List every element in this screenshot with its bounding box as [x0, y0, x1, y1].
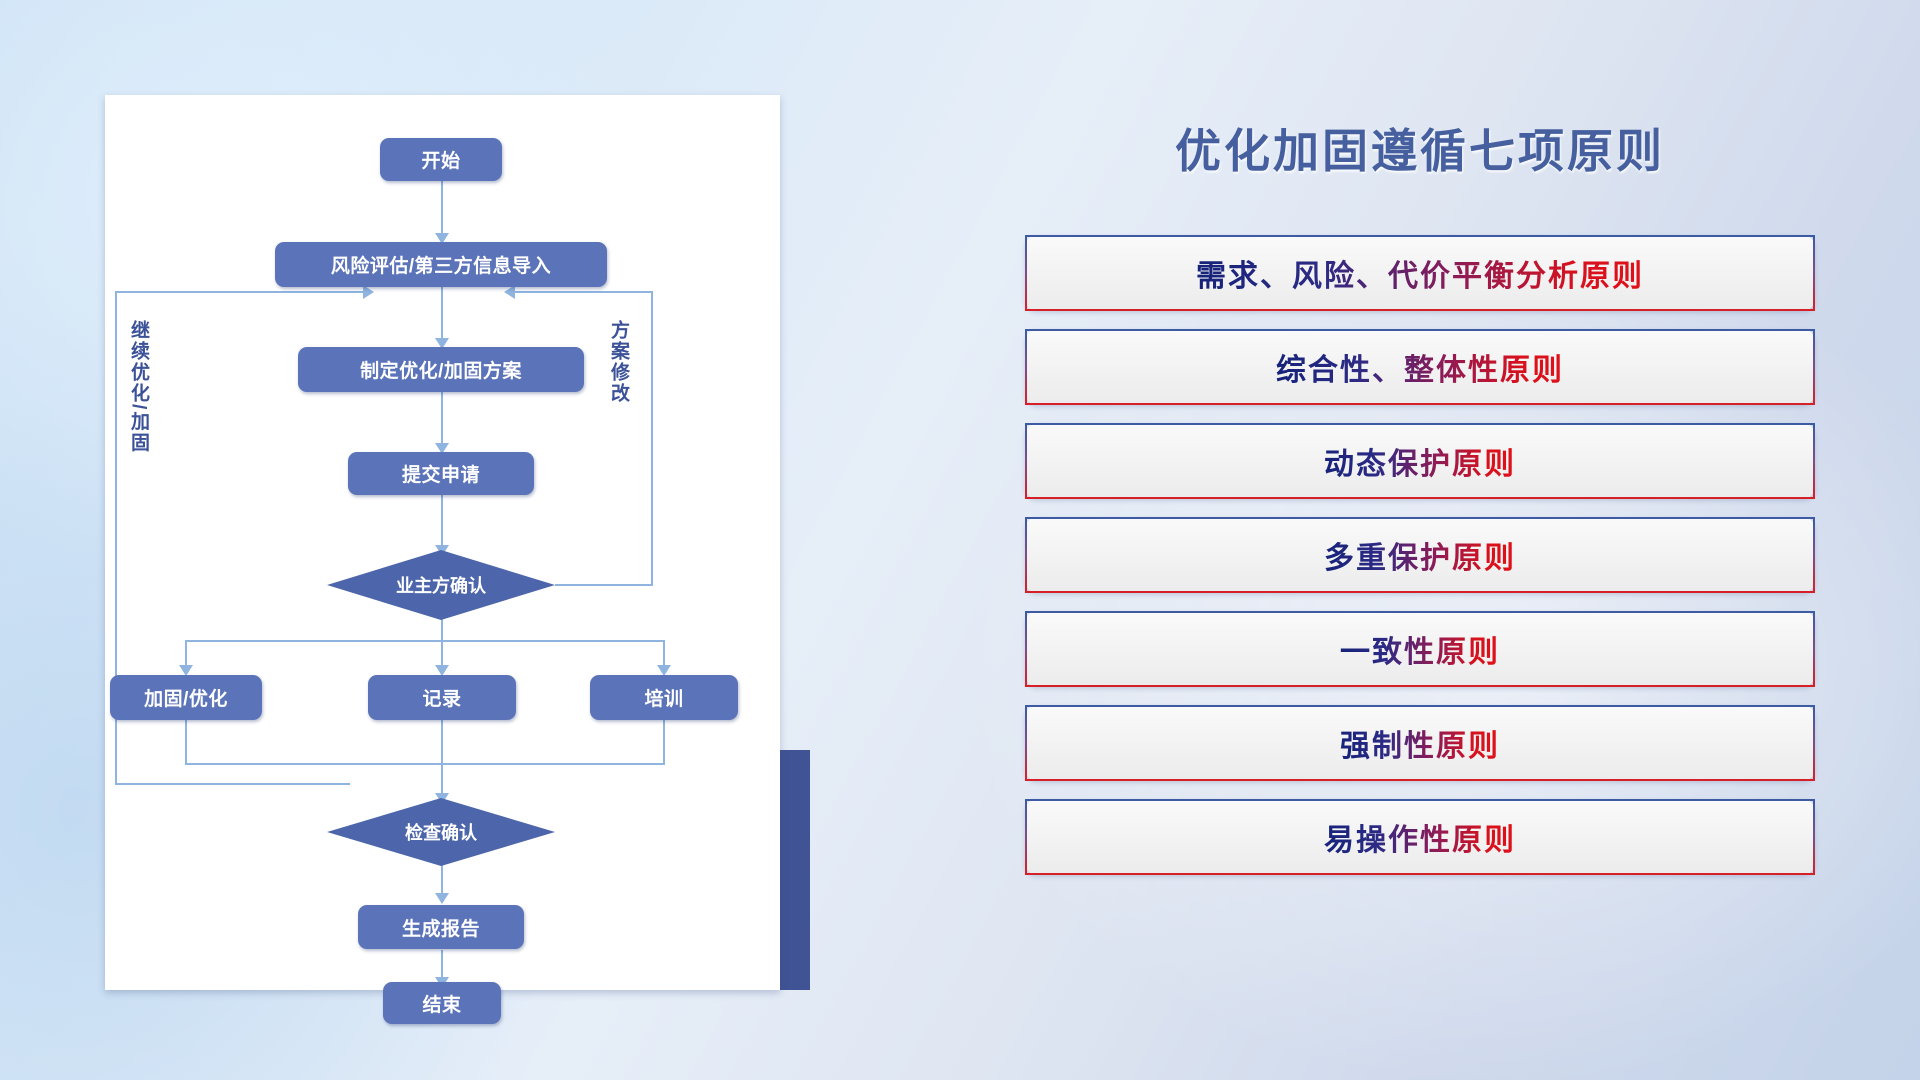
principle-list: 需求、风险、代价平衡分析原则 综合性、整体性原则 动态保护原则 多重保护原则 一…: [1025, 235, 1815, 893]
flow-node-inspection-confirm[interactable]: 检查确认: [327, 798, 555, 866]
principles-panel: 优化加固遵循七项原则 需求、风险、代价平衡分析原则 综合性、整体性原则 动态保护…: [1000, 95, 1840, 1005]
principle-label-1: 需求、风险、代价平衡分析原则: [1196, 251, 1644, 295]
flow-node-risk-assessment[interactable]: 风险评估/第三方信息导入: [275, 242, 607, 287]
flow-node-end[interactable]: 结束: [383, 982, 501, 1024]
connector-right-to-plan: [515, 291, 653, 293]
flow-node-training[interactable]: 培训: [590, 675, 738, 720]
connector-left-to-plan: [115, 291, 365, 293]
arrowhead-left-to-plan: [363, 285, 374, 299]
connector-plan-to-submit: [441, 390, 443, 448]
flow-node-risk-assessment-label: 风险评估/第三方信息导入: [331, 251, 551, 278]
connector-reinforce-down: [185, 720, 187, 765]
flow-node-start-label: 开始: [421, 146, 460, 173]
flow-node-record-label: 记录: [422, 684, 461, 711]
flow-node-end-label: 结束: [422, 990, 461, 1017]
connector-fanout-bus: [185, 640, 665, 642]
flowchart-card: 开始 风险评估/第三方信息导入 制定优化/加固方案 提交申请 业主方确认 加固/…: [105, 95, 780, 990]
principle-label-2: 综合性、整体性原则: [1276, 345, 1564, 389]
connector-training-down: [663, 720, 665, 765]
principle-card-2[interactable]: 综合性、整体性原则: [1025, 329, 1815, 405]
flow-node-report[interactable]: 生成报告: [358, 905, 524, 949]
flow-node-reinforce-label: 加固/优化: [144, 684, 228, 711]
connector-right-riser: [651, 291, 653, 586]
flow-node-record[interactable]: 记录: [368, 675, 516, 720]
connector-submit-to-owner: [441, 495, 443, 550]
flow-node-start[interactable]: 开始: [380, 138, 502, 181]
principle-label-3: 动态保护原则: [1324, 439, 1516, 483]
principle-card-5[interactable]: 一致性原则: [1025, 611, 1815, 687]
flow-node-inspection-confirm-label: 检查确认: [405, 819, 477, 845]
principle-card-1[interactable]: 需求、风险、代价平衡分析原则: [1025, 235, 1815, 311]
principle-card-6[interactable]: 强制性原则: [1025, 705, 1815, 781]
principle-label-5: 一致性原则: [1340, 627, 1500, 671]
flow-node-reinforce[interactable]: 加固/优化: [110, 675, 262, 720]
principle-label-6: 强制性原则: [1340, 721, 1500, 765]
connector-owner-to-right: [555, 584, 653, 586]
flowchart-canvas: 开始 风险评估/第三方信息导入 制定优化/加固方案 提交申请 业主方确认 加固/…: [105, 95, 780, 990]
flow-node-plan-label: 制定优化/加固方案: [360, 356, 522, 383]
flow-node-owner-confirm[interactable]: 业主方确认: [327, 550, 555, 620]
connector-merge-bus: [185, 763, 665, 765]
principle-card-4[interactable]: 多重保护原则: [1025, 517, 1815, 593]
arrowhead-inspection-to-report: [435, 893, 449, 904]
connector-owner-down: [441, 618, 443, 640]
principle-label-4: 多重保护原则: [1324, 533, 1516, 577]
flow-node-plan[interactable]: 制定优化/加固方案: [298, 347, 584, 392]
flow-node-submit-label: 提交申请: [402, 460, 480, 487]
flow-node-owner-confirm-label: 业主方确认: [396, 572, 486, 598]
panel-title: 优化加固遵循七项原则: [1000, 115, 1840, 181]
flow-edge-label-right-loop: 方案修改: [605, 320, 632, 404]
principle-card-7[interactable]: 易操作性原则: [1025, 799, 1815, 875]
arrowhead-right-to-plan: [504, 285, 515, 299]
connector-risk-to-plan: [441, 285, 443, 343]
principle-label-7: 易操作性原则: [1324, 815, 1516, 859]
connector-inspection-to-left: [115, 783, 350, 785]
flow-node-training-label: 培训: [644, 684, 683, 711]
flow-node-report-label: 生成报告: [402, 914, 480, 941]
principle-card-3[interactable]: 动态保护原则: [1025, 423, 1815, 499]
connector-record-down: [441, 720, 443, 765]
flow-node-submit[interactable]: 提交申请: [348, 452, 534, 495]
connector-start-to-risk: [441, 180, 443, 238]
flow-edge-label-left-loop: 继续优化/加固: [125, 320, 152, 453]
